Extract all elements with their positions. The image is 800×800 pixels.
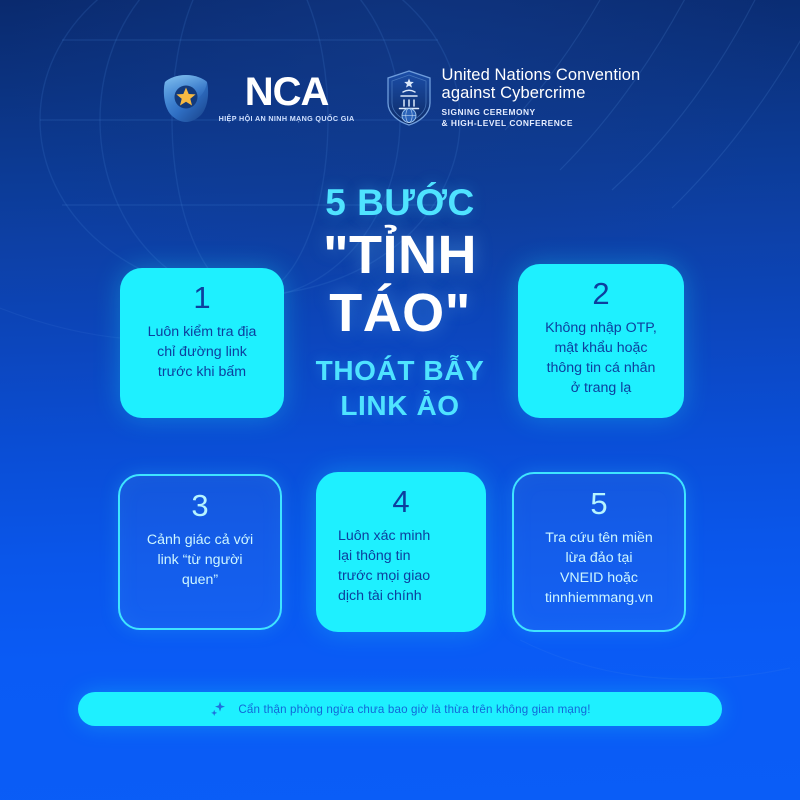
nca-wordmark: NCA	[245, 73, 329, 112]
header-logos: NCA HIỆP HỘI AN NINH MẠNG QUỐC GIA	[0, 66, 800, 130]
un-title-line1: United Nations Convention	[442, 66, 641, 84]
nca-subtitle: HIỆP HỘI AN NINH MẠNG QUỐC GIA	[219, 114, 355, 123]
step-text-3: Cảnh giác cả với link “từ người quen”	[147, 530, 253, 590]
sparkle-icon	[209, 700, 227, 718]
step-text-5: Tra cứu tên miền lừa đảo tại VNEID hoặc …	[545, 528, 653, 609]
step-number-4: 4	[392, 486, 409, 517]
step-number-1: 1	[193, 282, 210, 313]
step-text-1: Luôn kiểm tra địa chỉ đường link trước k…	[148, 322, 257, 382]
shield-star-icon	[160, 72, 212, 124]
step-card-2[interactable]: 2 Không nhập OTP, mật khẩu hoặc thông ti…	[518, 264, 684, 418]
step-card-5[interactable]: 5 Tra cứu tên miền lừa đảo tại VNEID hoặ…	[512, 472, 686, 632]
step-card-4[interactable]: 4 Luôn xác minh lại thông tin trước mọi …	[316, 472, 486, 632]
step-text-2: Không nhập OTP, mật khẩu hoặc thông tin …	[545, 318, 657, 399]
un-title-line2: against Cybercrime	[442, 84, 641, 102]
un-cybercrime-badge-icon	[385, 70, 433, 126]
un-subtitle-line1: SIGNING CEREMONY	[442, 107, 641, 118]
step-card-1[interactable]: 1 Luôn kiểm tra địa chỉ đường link trước…	[120, 268, 284, 418]
step-text-4: Luôn xác minh lại thông tin trước mọi gi…	[328, 526, 474, 607]
un-subtitle-line2: & HIGH-LEVEL CONFERENCE	[442, 118, 641, 129]
step-card-3[interactable]: 3 Cảnh giác cả với link “từ người quen”	[118, 474, 282, 630]
un-text-block: United Nations Convention against Cyberc…	[442, 66, 641, 130]
nca-logo: NCA HIỆP HỘI AN NINH MẠNG QUỐC GIA	[160, 72, 355, 124]
step-number-3: 3	[191, 490, 208, 521]
un-convention-logo: United Nations Convention against Cyberc…	[385, 66, 641, 130]
nca-wordmark-block: NCA HIỆP HỘI AN NINH MẠNG QUỐC GIA	[219, 73, 355, 123]
step-number-5: 5	[590, 488, 607, 519]
infographic-canvas: NCA HIỆP HỘI AN NINH MẠNG QUỐC GIA	[0, 0, 800, 800]
title-line-steps: 5 BƯỚC	[0, 184, 800, 222]
footer-banner[interactable]: Cẩn thận phòng ngừa chưa bao giờ là thừa…	[78, 692, 722, 726]
step-number-2: 2	[592, 278, 609, 309]
footer-text: Cẩn thận phòng ngừa chưa bao giờ là thừa…	[238, 703, 590, 716]
